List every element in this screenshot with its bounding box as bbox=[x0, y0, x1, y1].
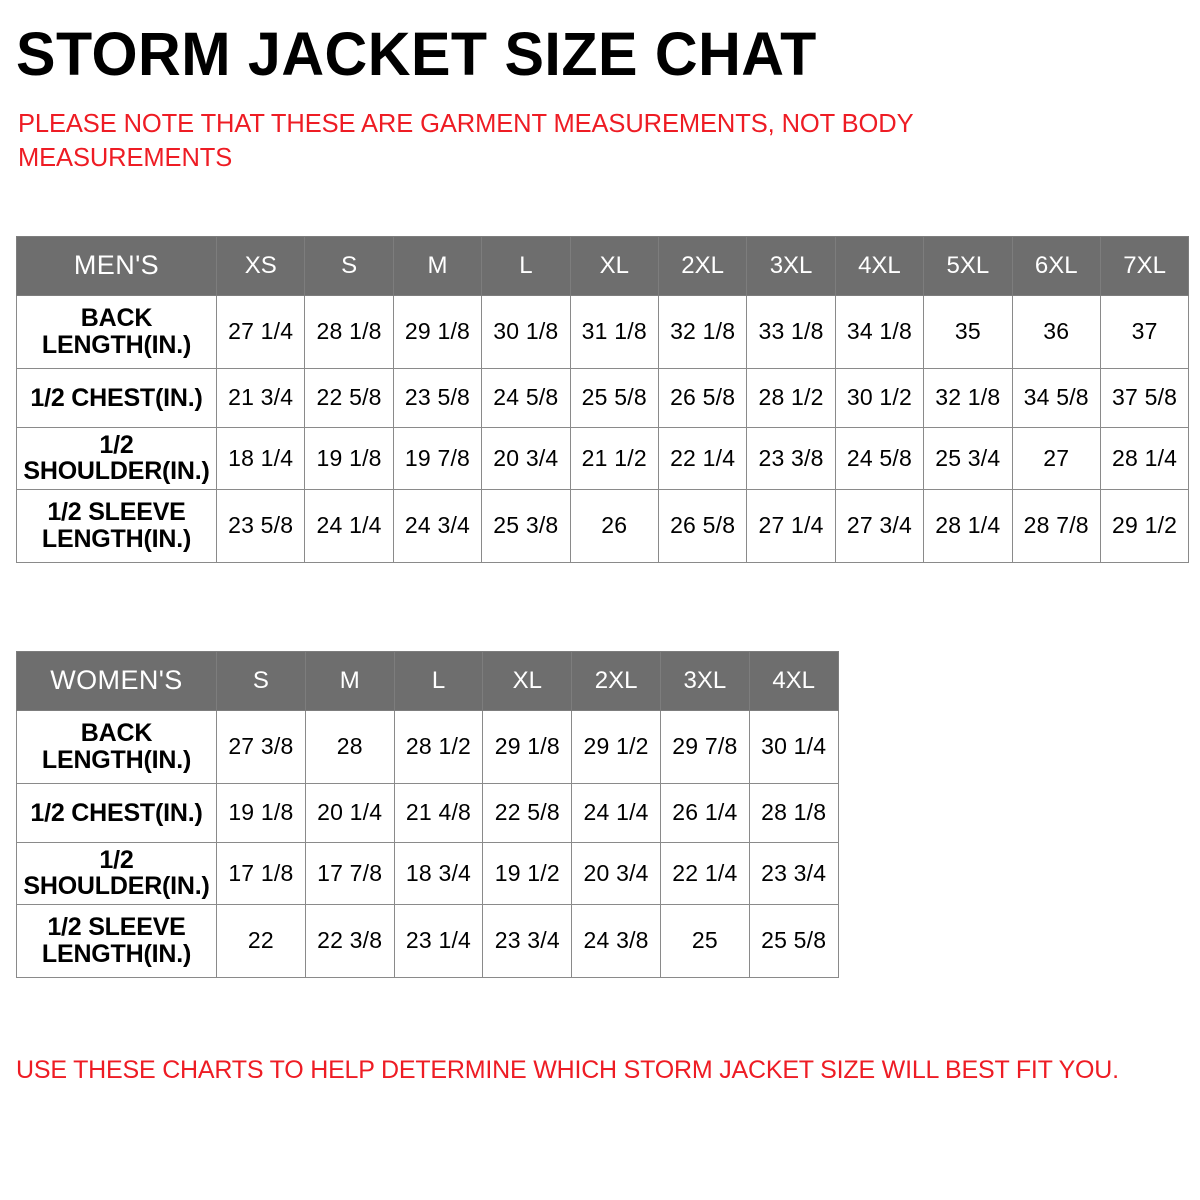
table-row: 1/2 SHOULDER(IN.) 17 1/8 17 7/8 18 3/4 1… bbox=[17, 842, 839, 904]
table-cell: 28 1/2 bbox=[747, 368, 835, 427]
table-cell: 25 bbox=[660, 904, 749, 977]
table-cell: 20 3/4 bbox=[572, 842, 661, 904]
table-cell: 24 5/8 bbox=[482, 368, 570, 427]
mens-table-body: BACK LENGTH(IN.) 27 1/4 28 1/8 29 1/8 30… bbox=[17, 295, 1189, 562]
table-cell: 26 5/8 bbox=[658, 489, 746, 562]
table-cell: 22 5/8 bbox=[305, 368, 393, 427]
table-row: BACK LENGTH(IN.) 27 1/4 28 1/8 29 1/8 30… bbox=[17, 295, 1189, 368]
womens-size-header-2xl: 2XL bbox=[572, 651, 661, 710]
table-cell: 20 3/4 bbox=[482, 427, 570, 489]
table-cell: 18 1/4 bbox=[217, 427, 305, 489]
mens-category-label: MEN'S bbox=[17, 236, 217, 295]
mens-size-header-l: L bbox=[482, 236, 570, 295]
table-cell: 23 3/4 bbox=[483, 904, 572, 977]
table-cell: 27 1/4 bbox=[217, 295, 305, 368]
womens-table-body: BACK LENGTH(IN.) 27 3/8 28 28 1/2 29 1/8… bbox=[17, 710, 839, 977]
table-cell: 29 1/2 bbox=[1100, 489, 1188, 562]
mens-size-header-2xl: 2XL bbox=[658, 236, 746, 295]
table-cell: 21 4/8 bbox=[394, 783, 483, 842]
table-cell: 22 3/8 bbox=[305, 904, 394, 977]
womens-size-header-s: S bbox=[217, 651, 306, 710]
table-cell: 24 1/4 bbox=[572, 783, 661, 842]
table-cell: 23 5/8 bbox=[217, 489, 305, 562]
table-cell: 24 5/8 bbox=[835, 427, 923, 489]
table-cell: 21 1/2 bbox=[570, 427, 658, 489]
mens-table-head: MEN'S XS S M L XL 2XL 3XL 4XL 5XL 6XL 7X… bbox=[17, 236, 1189, 295]
womens-table-container: WOMEN'S S M L XL 2XL 3XL 4XL BACK LENGTH… bbox=[16, 651, 1184, 978]
table-cell: 25 3/8 bbox=[482, 489, 570, 562]
table-cell: 19 1/8 bbox=[217, 783, 306, 842]
table-cell: 20 1/4 bbox=[305, 783, 394, 842]
page-title: STORM JACKET SIZE CHAT bbox=[16, 0, 1149, 86]
table-cell: 27 3/8 bbox=[217, 710, 306, 783]
table-cell: 28 1/8 bbox=[305, 295, 393, 368]
womens-size-table: WOMEN'S S M L XL 2XL 3XL 4XL BACK LENGTH… bbox=[16, 651, 839, 978]
womens-header-row: WOMEN'S S M L XL 2XL 3XL 4XL bbox=[17, 651, 839, 710]
womens-row-label-half-sleeve-length: 1/2 SLEEVE LENGTH(IN.) bbox=[17, 904, 217, 977]
mens-size-header-7xl: 7XL bbox=[1100, 236, 1188, 295]
mens-row-label-half-sleeve-length: 1/2 SLEEVE LENGTH(IN.) bbox=[17, 489, 217, 562]
table-cell: 23 5/8 bbox=[393, 368, 481, 427]
table-cell: 37 5/8 bbox=[1100, 368, 1188, 427]
table-row: 1/2 CHEST(IN.) 19 1/8 20 1/4 21 4/8 22 5… bbox=[17, 783, 839, 842]
table-row: 1/2 SLEEVE LENGTH(IN.) 23 5/8 24 1/4 24 … bbox=[17, 489, 1189, 562]
table-cell: 24 3/4 bbox=[393, 489, 481, 562]
table-cell: 29 1/2 bbox=[572, 710, 661, 783]
table-cell: 27 1/4 bbox=[747, 489, 835, 562]
mens-size-header-3xl: 3XL bbox=[747, 236, 835, 295]
table-cell: 26 bbox=[570, 489, 658, 562]
table-cell: 28 1/2 bbox=[394, 710, 483, 783]
table-cell: 26 1/4 bbox=[660, 783, 749, 842]
table-cell: 17 7/8 bbox=[305, 842, 394, 904]
table-cell: 28 1/4 bbox=[1100, 427, 1188, 489]
table-cell: 34 1/8 bbox=[835, 295, 923, 368]
womens-size-header-m: M bbox=[305, 651, 394, 710]
table-cell: 31 1/8 bbox=[570, 295, 658, 368]
table-cell: 30 1/8 bbox=[482, 295, 570, 368]
table-cell: 32 1/8 bbox=[924, 368, 1012, 427]
table-cell: 25 5/8 bbox=[570, 368, 658, 427]
table-cell: 28 bbox=[305, 710, 394, 783]
table-cell: 28 7/8 bbox=[1012, 489, 1100, 562]
womens-category-label: WOMEN'S bbox=[17, 651, 217, 710]
table-row: 1/2 CHEST(IN.) 21 3/4 22 5/8 23 5/8 24 5… bbox=[17, 368, 1189, 427]
table-cell: 28 1/4 bbox=[924, 489, 1012, 562]
table-cell: 36 bbox=[1012, 295, 1100, 368]
mens-size-header-xs: XS bbox=[217, 236, 305, 295]
table-cell: 17 1/8 bbox=[217, 842, 306, 904]
mens-header-row: MEN'S XS S M L XL 2XL 3XL 4XL 5XL 6XL 7X… bbox=[17, 236, 1189, 295]
table-cell: 19 1/8 bbox=[305, 427, 393, 489]
mens-row-label-half-shoulder: 1/2 SHOULDER(IN.) bbox=[17, 427, 217, 489]
womens-row-label-half-shoulder: 1/2 SHOULDER(IN.) bbox=[17, 842, 217, 904]
table-row: 1/2 SLEEVE LENGTH(IN.) 22 22 3/8 23 1/4 … bbox=[17, 904, 839, 977]
table-cell: 23 3/8 bbox=[747, 427, 835, 489]
garment-measurement-note: PLEASE NOTE THAT THESE ARE GARMENT MEASU… bbox=[18, 108, 978, 176]
womens-row-label-half-chest: 1/2 CHEST(IN.) bbox=[17, 783, 217, 842]
table-cell: 34 5/8 bbox=[1012, 368, 1100, 427]
table-cell: 21 3/4 bbox=[217, 368, 305, 427]
sizing-help-note: USE THESE CHARTS TO HELP DETERMINE WHICH… bbox=[16, 1056, 1119, 1085]
womens-row-label-back-length: BACK LENGTH(IN.) bbox=[17, 710, 217, 783]
mens-size-header-4xl: 4XL bbox=[835, 236, 923, 295]
table-cell: 22 bbox=[217, 904, 306, 977]
mens-row-label-half-chest: 1/2 CHEST(IN.) bbox=[17, 368, 217, 427]
mens-row-label-back-length: BACK LENGTH(IN.) bbox=[17, 295, 217, 368]
womens-size-header-3xl: 3XL bbox=[660, 651, 749, 710]
table-cell: 29 1/8 bbox=[393, 295, 481, 368]
mens-size-header-xl: XL bbox=[570, 236, 658, 295]
table-cell: 23 3/4 bbox=[749, 842, 838, 904]
table-row: 1/2 SHOULDER(IN.) 18 1/4 19 1/8 19 7/8 2… bbox=[17, 427, 1189, 489]
womens-size-header-l: L bbox=[394, 651, 483, 710]
mens-table-container: MEN'S XS S M L XL 2XL 3XL 4XL 5XL 6XL 7X… bbox=[16, 236, 1184, 563]
table-cell: 30 1/4 bbox=[749, 710, 838, 783]
table-cell: 22 5/8 bbox=[483, 783, 572, 842]
table-cell: 24 1/4 bbox=[305, 489, 393, 562]
size-chart-page: STORM JACKET SIZE CHAT PLEASE NOTE THAT … bbox=[0, 0, 1200, 1200]
table-cell: 25 3/4 bbox=[924, 427, 1012, 489]
mens-size-header-5xl: 5XL bbox=[924, 236, 1012, 295]
table-cell: 30 1/2 bbox=[835, 368, 923, 427]
table-cell: 29 1/8 bbox=[483, 710, 572, 783]
mens-size-header-6xl: 6XL bbox=[1012, 236, 1100, 295]
table-cell: 27 bbox=[1012, 427, 1100, 489]
table-cell: 35 bbox=[924, 295, 1012, 368]
mens-size-header-m: M bbox=[393, 236, 481, 295]
table-cell: 28 1/8 bbox=[749, 783, 838, 842]
mens-size-table: MEN'S XS S M L XL 2XL 3XL 4XL 5XL 6XL 7X… bbox=[16, 236, 1189, 563]
table-cell: 26 5/8 bbox=[658, 368, 746, 427]
table-cell: 18 3/4 bbox=[394, 842, 483, 904]
table-cell: 22 1/4 bbox=[660, 842, 749, 904]
table-cell: 37 bbox=[1100, 295, 1188, 368]
table-cell: 29 7/8 bbox=[660, 710, 749, 783]
table-cell: 23 1/4 bbox=[394, 904, 483, 977]
table-cell: 27 3/4 bbox=[835, 489, 923, 562]
table-cell: 22 1/4 bbox=[658, 427, 746, 489]
womens-table-head: WOMEN'S S M L XL 2XL 3XL 4XL bbox=[17, 651, 839, 710]
table-cell: 25 5/8 bbox=[749, 904, 838, 977]
table-cell: 24 3/8 bbox=[572, 904, 661, 977]
table-cell: 19 7/8 bbox=[393, 427, 481, 489]
table-row: BACK LENGTH(IN.) 27 3/8 28 28 1/2 29 1/8… bbox=[17, 710, 839, 783]
table-cell: 33 1/8 bbox=[747, 295, 835, 368]
womens-size-header-4xl: 4XL bbox=[749, 651, 838, 710]
mens-size-header-s: S bbox=[305, 236, 393, 295]
table-cell: 19 1/2 bbox=[483, 842, 572, 904]
table-cell: 32 1/8 bbox=[658, 295, 746, 368]
womens-size-header-xl: XL bbox=[483, 651, 572, 710]
